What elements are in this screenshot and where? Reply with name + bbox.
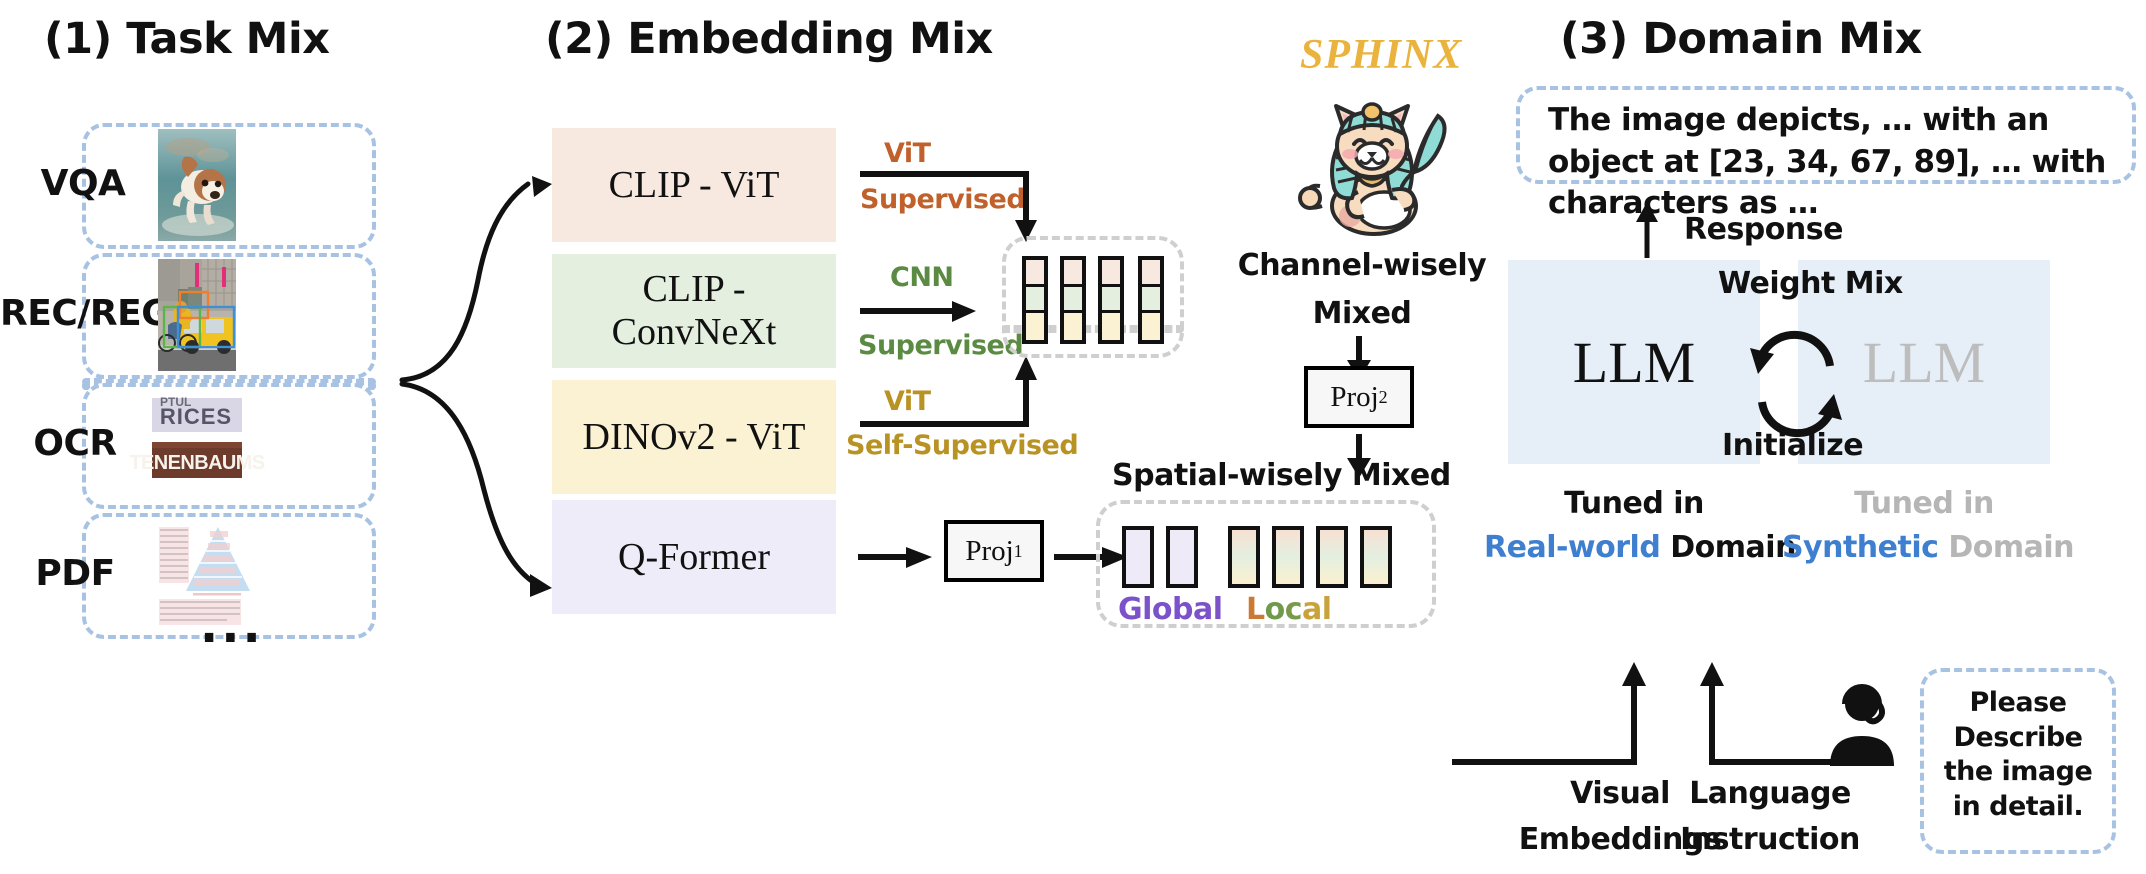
- encoder-box-clip-convnext[interactable]: CLIP - ConvNeXt: [552, 254, 836, 368]
- channel-token-group: [1002, 236, 1184, 358]
- column-title-domain-mix: (3) Domain Mix: [1560, 14, 1922, 64]
- response-arrow: [1630, 202, 1666, 258]
- proj1-label: Proj: [965, 535, 1013, 568]
- column-title-task-mix: (1) Task Mix: [44, 14, 329, 64]
- channel-wisely-label-line1: Channel-wisely: [1212, 248, 1512, 283]
- language-instruction-label-line1: Language: [1640, 776, 1900, 811]
- proj2-subscript: 2: [1379, 387, 1388, 408]
- proj1-subscript: 1: [1014, 541, 1023, 562]
- global-token-label: Global: [1118, 592, 1223, 627]
- dinov2-to-tokens-arrow: [860, 354, 1050, 434]
- proj2-label: Proj: [1330, 381, 1378, 414]
- llm-label-right: LLM: [1863, 329, 1985, 396]
- proj1-box[interactable]: Proj1: [944, 520, 1044, 582]
- svg-text:PTUL: PTUL: [160, 395, 191, 409]
- encoder-box-dinov2-vit[interactable]: DINOv2 - ViT: [552, 380, 836, 494]
- prompt-line-2: Describe: [1924, 721, 2112, 756]
- llm-label-left: LLM: [1573, 329, 1695, 396]
- arrow-label-vit-top: ViT: [884, 138, 931, 169]
- prompt-line-3: the image: [1924, 755, 2112, 790]
- weight-mix-label: Weight Mix: [1718, 266, 1903, 301]
- prompt-text: Please Describe the image in detail.: [1924, 686, 2112, 824]
- left-tuned-in-line2: Real-world Domain: [1484, 530, 1784, 565]
- proj2-box[interactable]: Proj2: [1304, 366, 1414, 428]
- weight-mix-cycle-arrows: [1740, 326, 1852, 444]
- task-label-pdf: PDF: [0, 553, 150, 594]
- response-arrow-label: Response: [1684, 212, 1843, 247]
- left-tuned-in-line1: Tuned in: [1508, 486, 1760, 521]
- task-thumb-vqa: [158, 129, 236, 241]
- language-instruction-label-line2: Instruction: [1640, 822, 1900, 857]
- local-token: [1272, 526, 1304, 588]
- sphinx-cat-mascot-icon: [1288, 86, 1463, 236]
- convnext-to-tokens-arrow: [860, 300, 980, 324]
- task-label-rec-reg: REC/REG: [0, 293, 166, 334]
- initialize-label: Initialize: [1722, 428, 1863, 463]
- task-thumb-ocr: RICES PTUL TENENBAUMS: [152, 390, 244, 502]
- local-token: [1360, 526, 1392, 588]
- spatial-wisely-label: Spatial-wisely Mixed: [1112, 458, 1451, 493]
- arrow-label-self-supervised: Self-Supervised: [846, 430, 1078, 461]
- channel-wisely-label-line2: Mixed: [1212, 296, 1512, 331]
- user-with-headset-icon: [1818, 678, 1910, 770]
- column-title-embedding-mix: (2) Embedding Mix: [545, 14, 993, 64]
- global-token: [1166, 526, 1198, 588]
- task-label-vqa: VQA: [8, 163, 158, 204]
- global-token: [1122, 526, 1154, 588]
- encoder-label-q-former: Q-Former: [618, 536, 770, 579]
- local-token: [1316, 526, 1348, 588]
- task-thumb-rec-reg: [158, 259, 236, 371]
- encoder-label-clip-convnext: CLIP - ConvNeXt: [584, 268, 804, 353]
- arrow-label-cnn: CNN: [890, 262, 954, 293]
- local-token: [1228, 526, 1260, 588]
- encoder-box-q-former[interactable]: Q-Former: [552, 500, 836, 614]
- right-domain-highlight: Synthetic: [1782, 530, 1938, 565]
- encoder-box-clip-vit[interactable]: CLIP - ViT: [552, 128, 836, 242]
- brand-name-sphinx: SPHINX: [1300, 31, 1462, 79]
- right-tuned-in-line2: Synthetic Domain: [1778, 530, 2078, 565]
- task-list-ellipsis: ...: [200, 598, 264, 654]
- visual-embeddings-arrow: [1452, 660, 1672, 782]
- task-label-ocr: OCR: [0, 423, 150, 464]
- encoder-label-clip-vit: CLIP - ViT: [609, 164, 780, 207]
- svg-text:TENENBAUMS: TENENBAUMS: [129, 452, 264, 474]
- right-domain-rest: Domain: [1948, 530, 2074, 565]
- prompt-line-4: in detail.: [1924, 790, 2112, 825]
- prompt-line-1: Please: [1924, 686, 2112, 721]
- left-domain-highlight: Real-world: [1484, 530, 1660, 565]
- local-token-label: Local: [1246, 592, 1332, 627]
- qformer-to-proj1-arrow: [858, 546, 938, 570]
- right-tuned-in-line1: Tuned in: [1798, 486, 2050, 521]
- encoder-label-dinov2-vit: DINOv2 - ViT: [583, 416, 806, 459]
